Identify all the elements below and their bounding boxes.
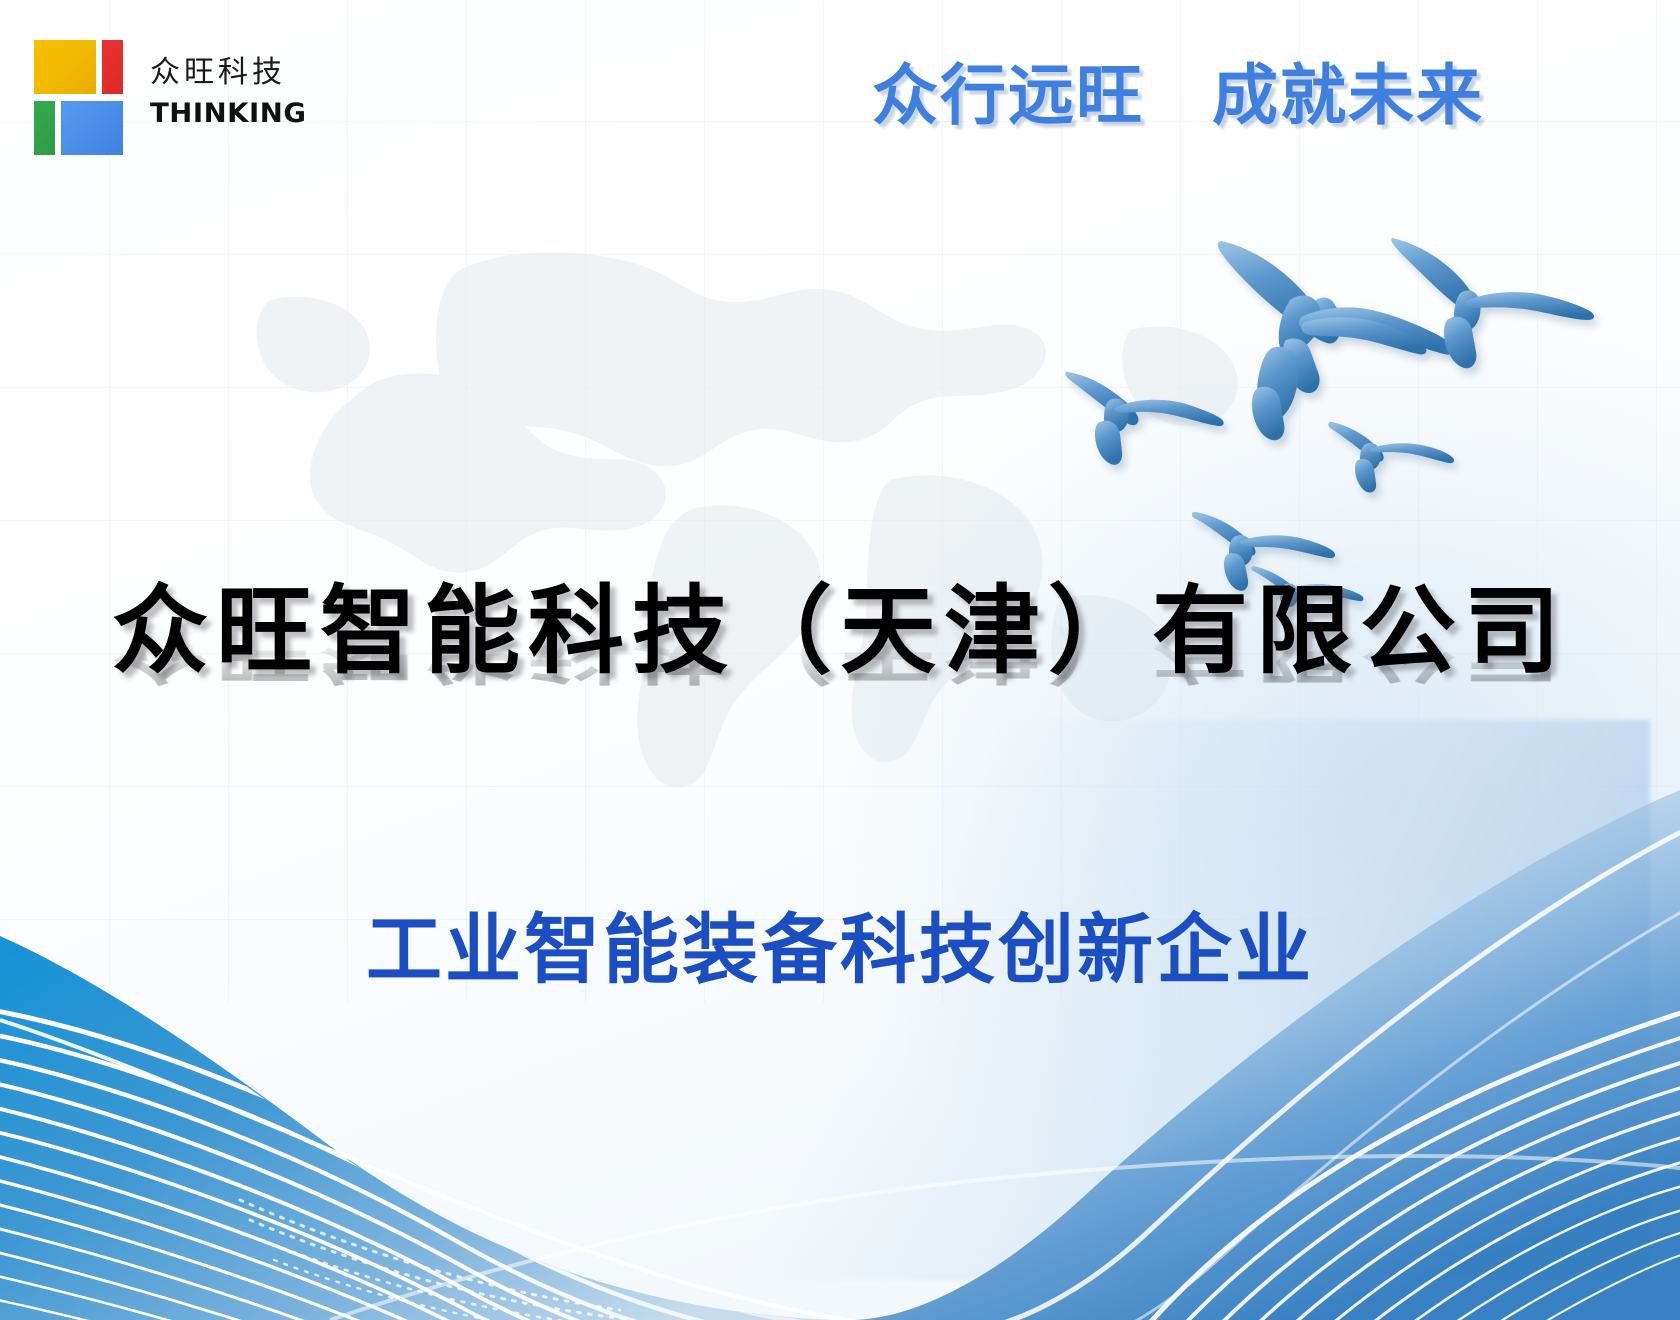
company-logo: 众旺科技 THINKING (30, 28, 305, 156)
logo-english-name: THINKING (150, 100, 306, 127)
logo-blue-tile-icon (61, 101, 123, 155)
bottom-left-wave-decoration (0, 900, 1680, 1320)
logo-red-tile-icon (102, 40, 123, 94)
logo-green-tile-icon (34, 101, 55, 155)
logo-chinese-name: 众旺科技 (150, 57, 286, 89)
company-title-reflection: 众旺智能科技（天津）有限公司 (0, 614, 1680, 687)
logo-yellow-tile-icon (34, 40, 96, 94)
logo-mark-icon (30, 34, 122, 150)
title-block: 众旺智能科技（天津）有限公司 众旺智能科技（天津）有限公司 (0, 580, 1680, 790)
presentation-slide: 众旺科技 THINKING 众行远旺 成就未来 众旺智能科技（天津）有限公司 众… (0, 0, 1680, 1320)
header-tagline: 众行远旺 成就未来 (872, 60, 1484, 133)
logo-wordmark: 众旺科技 THINKING (150, 57, 303, 127)
